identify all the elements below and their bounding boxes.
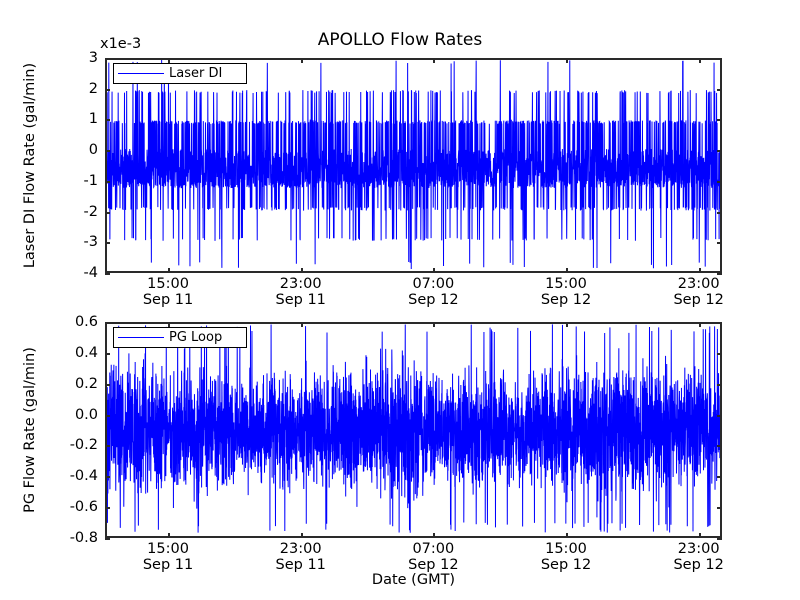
- y-tick-mark: [717, 384, 722, 386]
- x-tick-label: 23:00Sep 11: [246, 276, 356, 308]
- y-tick-mark: [105, 476, 110, 478]
- x-tick-mark: [699, 322, 701, 327]
- y-tick-label: -0.2: [52, 437, 98, 453]
- x-tick-mark: [566, 58, 568, 63]
- y-tick-mark: [717, 242, 722, 244]
- y-tick-mark: [717, 58, 722, 60]
- x-tick-mark: [301, 268, 303, 273]
- y-tick-mark: [717, 538, 722, 540]
- y-tick-label: -0.8: [52, 530, 98, 546]
- x-tick-mark: [433, 533, 435, 538]
- y-tick-label: -1: [52, 173, 98, 189]
- y-tick-labels-top: 3210-1-2-3-4: [46, 58, 98, 273]
- y-tick-label: 0.0: [52, 407, 98, 423]
- series-line-pg-loop: [107, 324, 720, 536]
- x-tick-mark: [168, 268, 170, 273]
- x-tick-mark: [433, 322, 435, 327]
- x-tick-labels-top: 15:00Sep 1123:00Sep 1107:00Sep 1215:00Se…: [105, 276, 722, 316]
- x-tick-mark: [301, 533, 303, 538]
- y-tick-mark: [105, 181, 110, 183]
- y-tick-mark: [105, 353, 110, 355]
- y-tick-label: -2: [52, 204, 98, 220]
- y-tick-labels-bottom: 0.60.40.20.0-0.2-0.4-0.6-0.8: [46, 322, 98, 538]
- x-tick-mark: [566, 533, 568, 538]
- y-tick-label: -4: [52, 265, 98, 281]
- x-tick-label: 07:00Sep 12: [378, 276, 488, 308]
- y-tick-label: 0.2: [52, 376, 98, 392]
- y-tick-mark: [717, 89, 722, 91]
- x-tick-mark: [301, 58, 303, 63]
- y-tick-mark: [717, 353, 722, 355]
- y-tick-mark: [105, 322, 110, 324]
- y-tick-mark: [105, 415, 110, 417]
- y-tick-mark: [717, 476, 722, 478]
- y-tick-mark: [105, 384, 110, 386]
- y-tick-label: -0.6: [52, 499, 98, 515]
- y-tick-label: 0.6: [52, 314, 98, 330]
- y-tick-mark: [105, 507, 110, 509]
- x-tick-label: 23:00Sep 11: [246, 541, 356, 573]
- x-tick-mark: [433, 268, 435, 273]
- y-tick-mark: [717, 119, 722, 121]
- plot-area-pg-loop: [105, 322, 722, 538]
- x-tick-label: 15:00Sep 11: [113, 541, 223, 573]
- y-tick-mark: [717, 150, 722, 152]
- y-tick-mark: [105, 58, 110, 60]
- y-tick-label: 2: [52, 81, 98, 97]
- x-tick-label: 23:00Sep 12: [644, 541, 754, 573]
- y-tick-mark: [105, 212, 110, 214]
- legend-pg-loop: PG Loop: [113, 327, 247, 348]
- y-tick-mark: [105, 445, 110, 447]
- x-tick-mark: [699, 533, 701, 538]
- y-tick-label: 0: [52, 142, 98, 158]
- y-tick-mark: [717, 212, 722, 214]
- x-tick-mark: [168, 533, 170, 538]
- legend-label-pg-loop: PG Loop: [169, 330, 240, 345]
- figure-canvas: APOLLO Flow Rates x1e-3 Laser DI Flow Ra…: [0, 0, 800, 600]
- x-tick-mark: [699, 58, 701, 63]
- y-tick-label: 0.4: [52, 345, 98, 361]
- legend-line-swatch-icon: [118, 73, 164, 74]
- y-tick-mark: [105, 119, 110, 121]
- y-tick-label: 1: [52, 111, 98, 127]
- legend-label-laser-di: Laser DI: [169, 66, 240, 81]
- legend-laser-di: Laser DI: [113, 63, 247, 84]
- y-tick-label: -3: [52, 234, 98, 250]
- y-tick-mark: [717, 507, 722, 509]
- y-tick-mark: [717, 181, 722, 183]
- y-axis-label-bottom: PG Flow Rate (gal/min): [22, 322, 38, 538]
- y-tick-mark: [105, 150, 110, 152]
- y-tick-mark: [105, 273, 110, 275]
- x-tick-label: 07:00Sep 12: [378, 541, 488, 573]
- x-tick-label: 23:00Sep 12: [644, 276, 754, 308]
- y-tick-mark: [717, 322, 722, 324]
- y-tick-mark: [105, 538, 110, 540]
- plot-area-laser-di: [105, 58, 722, 273]
- y-tick-label: 3: [52, 50, 98, 66]
- y-tick-mark: [105, 242, 110, 244]
- x-tick-mark: [433, 58, 435, 63]
- y-tick-mark: [717, 273, 722, 275]
- legend-line-swatch-icon: [118, 337, 164, 338]
- x-tick-mark: [566, 322, 568, 327]
- y-tick-mark: [717, 445, 722, 447]
- y-tick-mark: [105, 89, 110, 91]
- y-tick-label: -0.4: [52, 468, 98, 484]
- x-tick-label: 15:00Sep 12: [511, 276, 621, 308]
- x-tick-label: 15:00Sep 11: [113, 276, 223, 308]
- series-line-laser-di: [107, 60, 720, 271]
- y-tick-mark: [717, 415, 722, 417]
- x-tick-mark: [301, 322, 303, 327]
- x-tick-mark: [566, 268, 568, 273]
- y-axis-label-top: Laser DI Flow Rate (gal/min): [22, 58, 38, 273]
- x-tick-label: 15:00Sep 12: [511, 541, 621, 573]
- x-tick-labels-bottom: 15:00Sep 1123:00Sep 1107:00Sep 1215:00Se…: [105, 541, 722, 581]
- x-tick-mark: [699, 268, 701, 273]
- y-axis-offset-text-top: x1e-3: [100, 36, 141, 52]
